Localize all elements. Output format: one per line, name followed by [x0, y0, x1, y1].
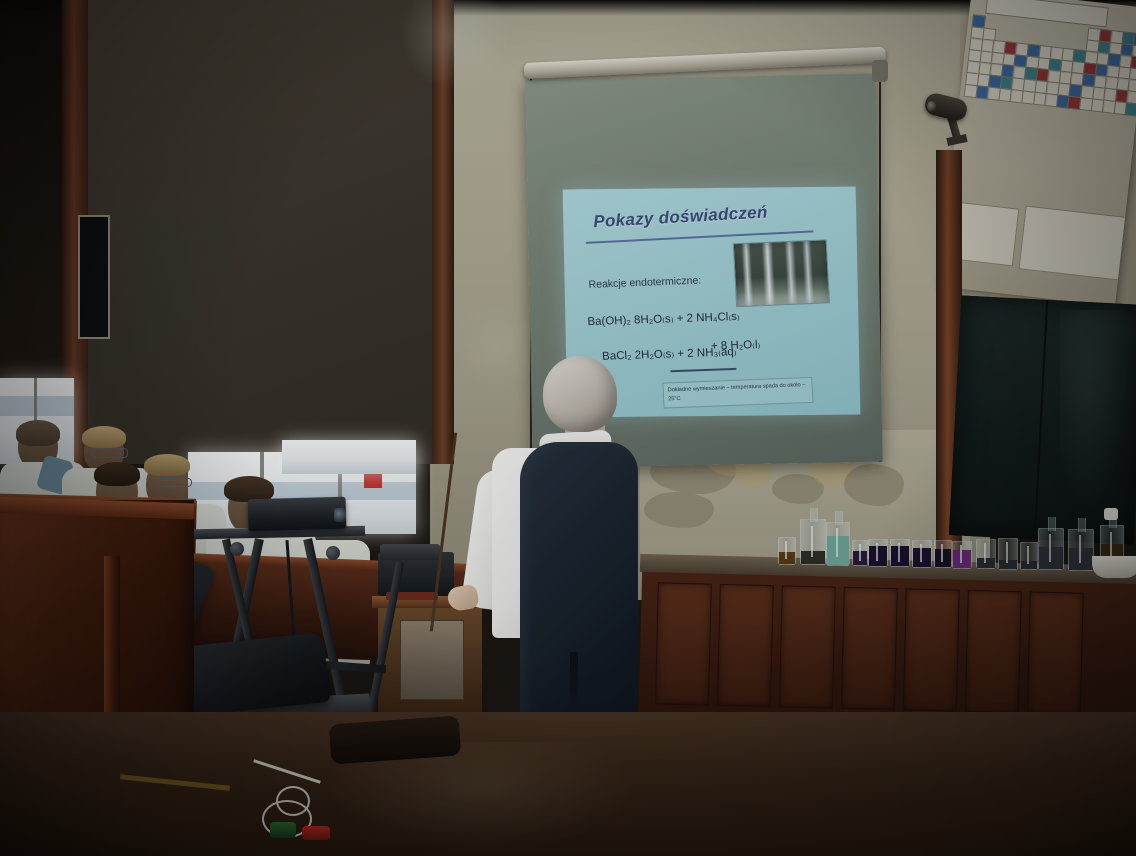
periodic-table-cell	[1125, 102, 1136, 116]
glassware-beaker-4	[890, 539, 910, 567]
projector-lens-icon	[334, 508, 346, 522]
screen-roller-end-cap	[872, 60, 888, 82]
glassware-highlight	[1079, 535, 1081, 563]
bottle-neck	[810, 508, 818, 522]
lens-flare-spot-2	[452, 300, 542, 390]
bottle-neck	[835, 511, 843, 525]
bench-cabinet-panel[interactable]	[779, 585, 836, 708]
glassware-highlight	[811, 526, 813, 557]
glassware-beaker-3	[868, 539, 888, 567]
glassware-highlight	[876, 543, 878, 561]
bench-cabinet-panel[interactable]	[717, 584, 774, 707]
bench-cabinet-panel[interactable]	[1027, 591, 1084, 714]
student-hair	[144, 454, 190, 476]
student-glasses-icon	[158, 478, 192, 487]
wall-dark-panel	[80, 0, 450, 464]
glassware-highlight	[984, 543, 986, 563]
glassware-beaker-9	[998, 538, 1018, 570]
stand-pivot-knob[interactable]	[230, 542, 244, 556]
student-glasses-icon	[92, 448, 128, 458]
camera-lens-icon	[927, 101, 936, 112]
glassware-highlight	[1049, 534, 1051, 562]
glassware-highlight	[836, 528, 838, 557]
poster-lanthanide-block	[1018, 205, 1127, 280]
extension-plug-green[interactable]	[270, 822, 296, 838]
slide-equation-underline	[670, 368, 736, 372]
bench-cabinet-panel[interactable]	[655, 582, 712, 705]
student-hair	[16, 420, 60, 446]
glassware-bottle-2	[1038, 528, 1064, 570]
glassware-highlight	[960, 545, 962, 563]
stand-pivot-knob[interactable]	[326, 546, 340, 560]
glassware-highlight	[941, 544, 943, 562]
window-red-sign	[364, 474, 382, 488]
bench-cabinet-panel[interactable]	[965, 590, 1022, 713]
slide-title: Pokazy doświadczeń	[593, 200, 814, 232]
glassware-bottle-3	[1068, 529, 1094, 571]
bench-cabinet-panel[interactable]	[903, 588, 960, 711]
glassware-beaker-10	[1020, 542, 1038, 570]
glassware-highlight	[898, 543, 900, 561]
plaster-stain	[844, 464, 904, 506]
glassware-highlight	[1027, 546, 1029, 564]
glassware-beaker-5	[912, 540, 932, 568]
window-upper-near	[282, 440, 416, 474]
bottle-neck	[1078, 518, 1086, 532]
power-cable-coil	[276, 786, 310, 816]
extension-plug-red[interactable]	[302, 826, 330, 840]
presenter-head	[543, 356, 617, 432]
glassware-liquid	[1069, 548, 1093, 570]
presenter-vest	[520, 442, 638, 737]
glassware-beaker-6	[934, 540, 952, 568]
wall-plaque	[78, 215, 110, 339]
glassware-beaker-7	[952, 541, 972, 569]
side-table-panel	[400, 620, 464, 700]
bench-cabinet-panel[interactable]	[841, 587, 898, 710]
periodic-table-poster	[938, 0, 1136, 306]
lecture-hall-photo: Pokazy doświadczeń Reakcje endotermiczne…	[0, 0, 1136, 856]
glassware-liquid	[801, 551, 825, 564]
plaster-stain	[644, 492, 714, 528]
glassware-beaker-8	[976, 539, 996, 569]
glassware-highlight	[785, 541, 787, 559]
video-projector[interactable]	[248, 497, 347, 532]
student-hair	[94, 462, 140, 486]
glassware-beaker-1	[778, 537, 796, 565]
slide-equation-products-b: + 8 H₂O₍l₎	[711, 337, 761, 353]
glassware-flask-1	[800, 519, 826, 565]
periodic-table-grid	[953, 14, 1136, 213]
slide-photo-icicles	[733, 239, 830, 307]
bottle-neck	[1048, 517, 1056, 531]
glassware-highlight	[1006, 542, 1008, 563]
blackboard-glare	[1060, 310, 1130, 510]
student-hair	[82, 426, 126, 448]
window-view-building	[0, 396, 74, 416]
glassware-liquid	[827, 536, 849, 565]
slide-equation-reactants: Ba(OH)₂ 8H₂O₍s₎ + 2 NH₄Cl₍s₎	[587, 309, 740, 328]
bottle-cap	[1104, 508, 1118, 520]
glassware-highlight	[920, 544, 922, 562]
glassware-beaker-2	[852, 540, 868, 566]
overhead-projector-head	[380, 544, 440, 560]
white-evaporating-dish	[1092, 556, 1136, 578]
glassware-bottle-1	[826, 522, 850, 566]
glassware-highlight	[859, 544, 861, 561]
glassware-liquid	[1039, 547, 1063, 569]
slide-note-box: Dokładne wymieszanie – temperatura spada…	[662, 377, 813, 409]
slide-subtitle: Reakcje endotermiczne:	[588, 275, 701, 291]
